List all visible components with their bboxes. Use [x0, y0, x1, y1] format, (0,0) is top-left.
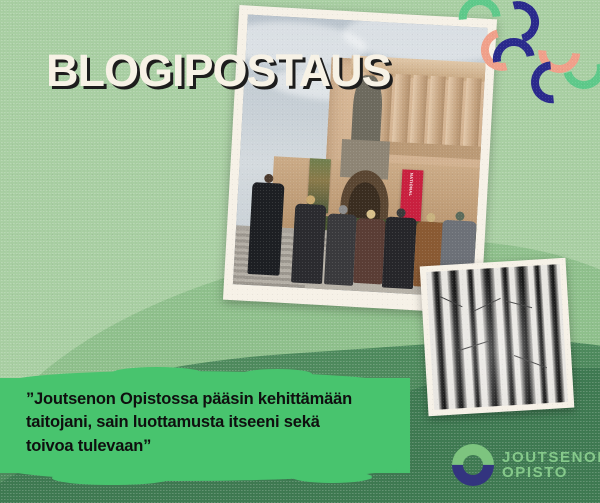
banner-text: NATIONAL: [408, 173, 414, 197]
column: [463, 78, 482, 149]
photo-trees-image: [426, 264, 568, 410]
quote-line: toivoa tulevaan”: [26, 435, 398, 458]
logo-line-1: JOUTSENON: [502, 450, 600, 465]
column: [392, 74, 411, 145]
photo-trees-frame: [420, 258, 575, 416]
person: [324, 214, 357, 286]
quote-line: ”Joutsenon Opistossa pääsin kehittämään: [26, 388, 398, 411]
page-title: BLOGIPOSTAUS: [46, 45, 391, 97]
column: [445, 77, 464, 148]
photo-haze: [426, 264, 568, 410]
person: [353, 218, 385, 284]
band-brush-fleck: [112, 367, 202, 379]
column: [409, 75, 428, 146]
blog-post-poster: NATIONAL BLOGIPOSTAUS: [0, 0, 600, 503]
band-brush-fleck: [292, 471, 372, 483]
logo[interactable]: JOUTSENON OPISTO: [452, 444, 600, 486]
column: [427, 76, 446, 147]
mark-arc-bottom: [443, 435, 502, 494]
person: [248, 182, 284, 275]
quote-text: ”Joutsenon Opistossa pääsin kehittämään …: [26, 388, 398, 458]
band-brush-fleck: [242, 369, 312, 379]
person: [291, 204, 327, 284]
column: [480, 79, 487, 150]
band-brush-fleck: [52, 471, 172, 485]
person: [382, 217, 417, 289]
logo-wordmark: JOUTSENON OPISTO: [502, 450, 600, 481]
joutsenon-opisto-mark-icon: [452, 444, 494, 486]
quote-line: taitojani, sain luottamusta itseeni sekä: [26, 411, 398, 434]
logo-line-2: OPISTO: [502, 465, 600, 480]
